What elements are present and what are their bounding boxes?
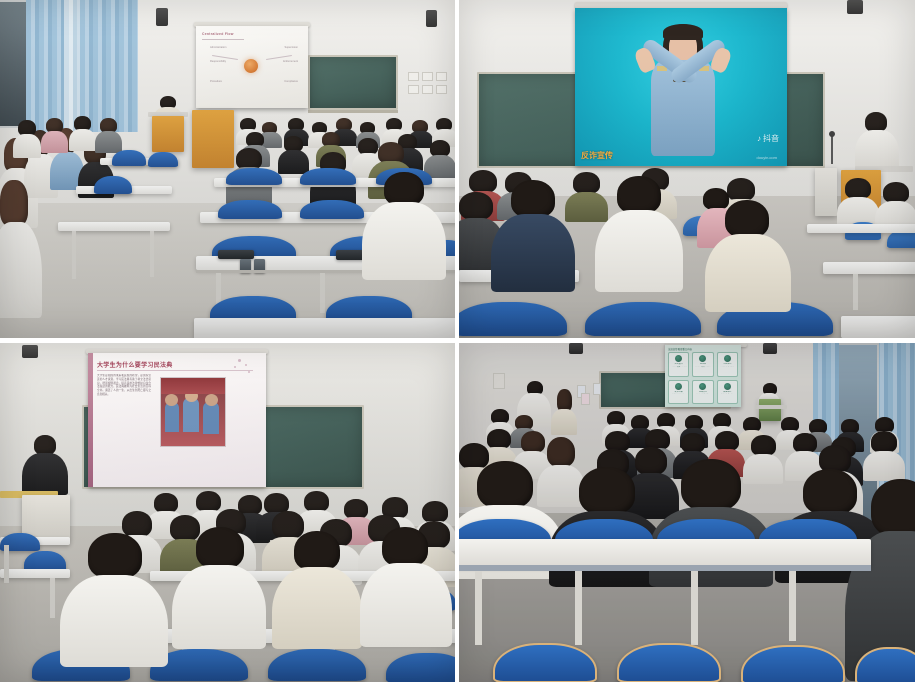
slide-title: 大学生为什么要学习民法典 bbox=[97, 360, 173, 369]
projection-screen: 大学生为什么要学习民法典 大学生是祖国的未来和民族的希望，是国家宝贵的人才资源。… bbox=[88, 353, 266, 487]
shield-icon bbox=[675, 355, 682, 362]
douyin-watermark: ♪ 抖音 bbox=[757, 133, 779, 144]
slide-icon-cards: 法治宣传教育重点内容 宪法宣传 坚持宪法至上 维护宪法权威 民法典 保障民事权利… bbox=[665, 345, 741, 407]
phone-tray bbox=[218, 250, 254, 259]
wall-poster bbox=[408, 72, 419, 81]
video-frame: 反诈宣传 ♪ 抖音 douyin.com bbox=[575, 8, 787, 166]
photo-panel-top-right: 反诈宣传 ♪ 抖音 douyin.com bbox=[459, 0, 915, 338]
slide-heading: 法治宣传教育重点内容 bbox=[668, 347, 692, 351]
photo-collage: Centralized Flow Administration Responsi… bbox=[0, 0, 915, 682]
front-desk-top bbox=[755, 405, 787, 409]
video-caption-text: 反诈宣传 bbox=[581, 150, 613, 161]
ceiling-speaker bbox=[22, 345, 38, 358]
projection-screen: 法治宣传教育重点内容 宪法宣传 坚持宪法至上 维护宪法权威 民法典 保障民事权利… bbox=[665, 345, 741, 407]
desk bbox=[0, 569, 70, 578]
ceiling-speaker-left bbox=[569, 343, 583, 354]
chair bbox=[148, 152, 178, 167]
presenter-head bbox=[34, 435, 56, 455]
wall-poster bbox=[493, 373, 505, 389]
front-desk bbox=[759, 399, 781, 421]
slide-card: 反诈防骗 识别骗局 保护财产 bbox=[668, 380, 689, 405]
desk bbox=[841, 316, 915, 338]
chair bbox=[300, 168, 356, 185]
chair bbox=[112, 150, 146, 166]
desk bbox=[823, 262, 915, 274]
presenter-podium bbox=[152, 116, 184, 152]
book-icon bbox=[699, 355, 706, 362]
wall-poster bbox=[436, 85, 447, 94]
music-note-icon: ♪ bbox=[757, 134, 761, 143]
desk bbox=[58, 222, 170, 231]
ceiling-speaker-right bbox=[763, 343, 777, 354]
diagram-note-right-3: Compliance bbox=[268, 80, 298, 84]
card-body: 保障民事权利 规范民事行为 bbox=[694, 366, 712, 370]
photo-panel-top-left: Centralized Flow Administration Responsi… bbox=[0, 0, 455, 338]
slide-card: 刑法常识 知法守法 远离犯罪 bbox=[717, 352, 738, 377]
chair bbox=[585, 302, 701, 336]
chair bbox=[300, 200, 364, 219]
desk bbox=[194, 318, 455, 338]
ceiling-speaker bbox=[847, 0, 863, 14]
lectern bbox=[192, 110, 234, 168]
slide-accent-bar bbox=[88, 353, 93, 487]
scales-icon bbox=[724, 383, 731, 390]
presenter-torso bbox=[22, 453, 68, 495]
card-body: 知法守法 远离犯罪 bbox=[718, 366, 736, 368]
diagram-note-right-1: Supervision bbox=[268, 46, 298, 50]
wall-poster bbox=[422, 85, 433, 94]
wall-poster bbox=[408, 85, 419, 94]
ceiling-speaker-right bbox=[426, 10, 437, 27]
chair bbox=[218, 200, 282, 219]
slide-title: Centralized Flow bbox=[202, 32, 234, 36]
douyin-watermark-sub: douyin.com bbox=[757, 155, 777, 160]
card-body: 文明上网 理性发声 bbox=[694, 393, 712, 395]
card-body: 依法维权 理性表达 bbox=[718, 393, 736, 395]
chair bbox=[94, 176, 132, 194]
slide-card: 民法典 保障民事权利 规范民事行为 bbox=[692, 352, 713, 377]
lock-icon bbox=[699, 383, 706, 390]
desk bbox=[807, 224, 915, 233]
slide-body-text: 大学生是祖国的未来和民族的希望，是国家宝贵的人才资源。学习民法典有助于树立法治意… bbox=[97, 374, 151, 474]
chair bbox=[24, 551, 66, 571]
curtain-right bbox=[80, 0, 138, 132]
equipment-cabinet bbox=[815, 168, 837, 216]
projection-screen: Centralized Flow Administration Responsi… bbox=[196, 26, 308, 108]
wall-poster bbox=[581, 393, 590, 405]
microphone bbox=[831, 134, 833, 164]
presenter-lectern bbox=[22, 495, 70, 539]
diagram-note-left-2: Responsibility bbox=[210, 60, 240, 64]
slide-card: 网络安全 文明上网 理性发声 bbox=[692, 380, 713, 405]
alert-icon bbox=[675, 383, 682, 390]
gavel-icon bbox=[724, 355, 731, 362]
slide-diagram: Centralized Flow Administration Responsi… bbox=[196, 26, 308, 108]
slide-card: 宪法宣传 坚持宪法至上 维护宪法权威 bbox=[668, 352, 689, 377]
chalkboard bbox=[308, 55, 398, 110]
policewoman-figure bbox=[575, 8, 787, 166]
wall-poster bbox=[422, 72, 433, 81]
card-body: 识别骗局 保护财产 bbox=[670, 393, 688, 395]
slide-card: 权益维护 依法维权 理性表达 bbox=[717, 380, 738, 405]
diagram-note-right-2: Enforcement bbox=[268, 60, 298, 64]
slide-civil-code: 大学生为什么要学习民法典 大学生是祖国的未来和民族的希望，是国家宝贵的人才资源。… bbox=[88, 353, 266, 487]
card-body: 坚持宪法至上 维护宪法权威 bbox=[670, 366, 688, 370]
photo-panel-bottom-left: 大学生为什么要学习民法典 大学生是祖国的未来和民族的希望，是国家宝贵的人才资源。… bbox=[0, 343, 455, 682]
slide-photo bbox=[160, 377, 226, 447]
chalk-tray bbox=[308, 110, 398, 113]
diagram-note-left-3: Procedure bbox=[210, 80, 240, 84]
photo-panel-bottom-right: 法治宣传教育重点内容 宪法宣传 坚持宪法至上 维护宪法权威 民法典 保障民事权利… bbox=[459, 343, 915, 682]
wall-poster bbox=[593, 383, 601, 395]
presenter-torso bbox=[855, 130, 899, 170]
chair bbox=[268, 649, 366, 681]
projection-screen: 反诈宣传 ♪ 抖音 douyin.com bbox=[575, 8, 787, 166]
curtain-left bbox=[26, 0, 68, 132]
ceiling-speaker-left bbox=[156, 8, 168, 26]
chair bbox=[226, 168, 282, 185]
diagram-note-left-1: Administration bbox=[210, 46, 240, 50]
wall-poster bbox=[436, 72, 447, 81]
long-desk bbox=[459, 539, 871, 567]
presenter-head bbox=[865, 112, 887, 132]
national-emblem-icon bbox=[244, 59, 258, 73]
douyin-watermark-label: 抖音 bbox=[763, 133, 779, 144]
